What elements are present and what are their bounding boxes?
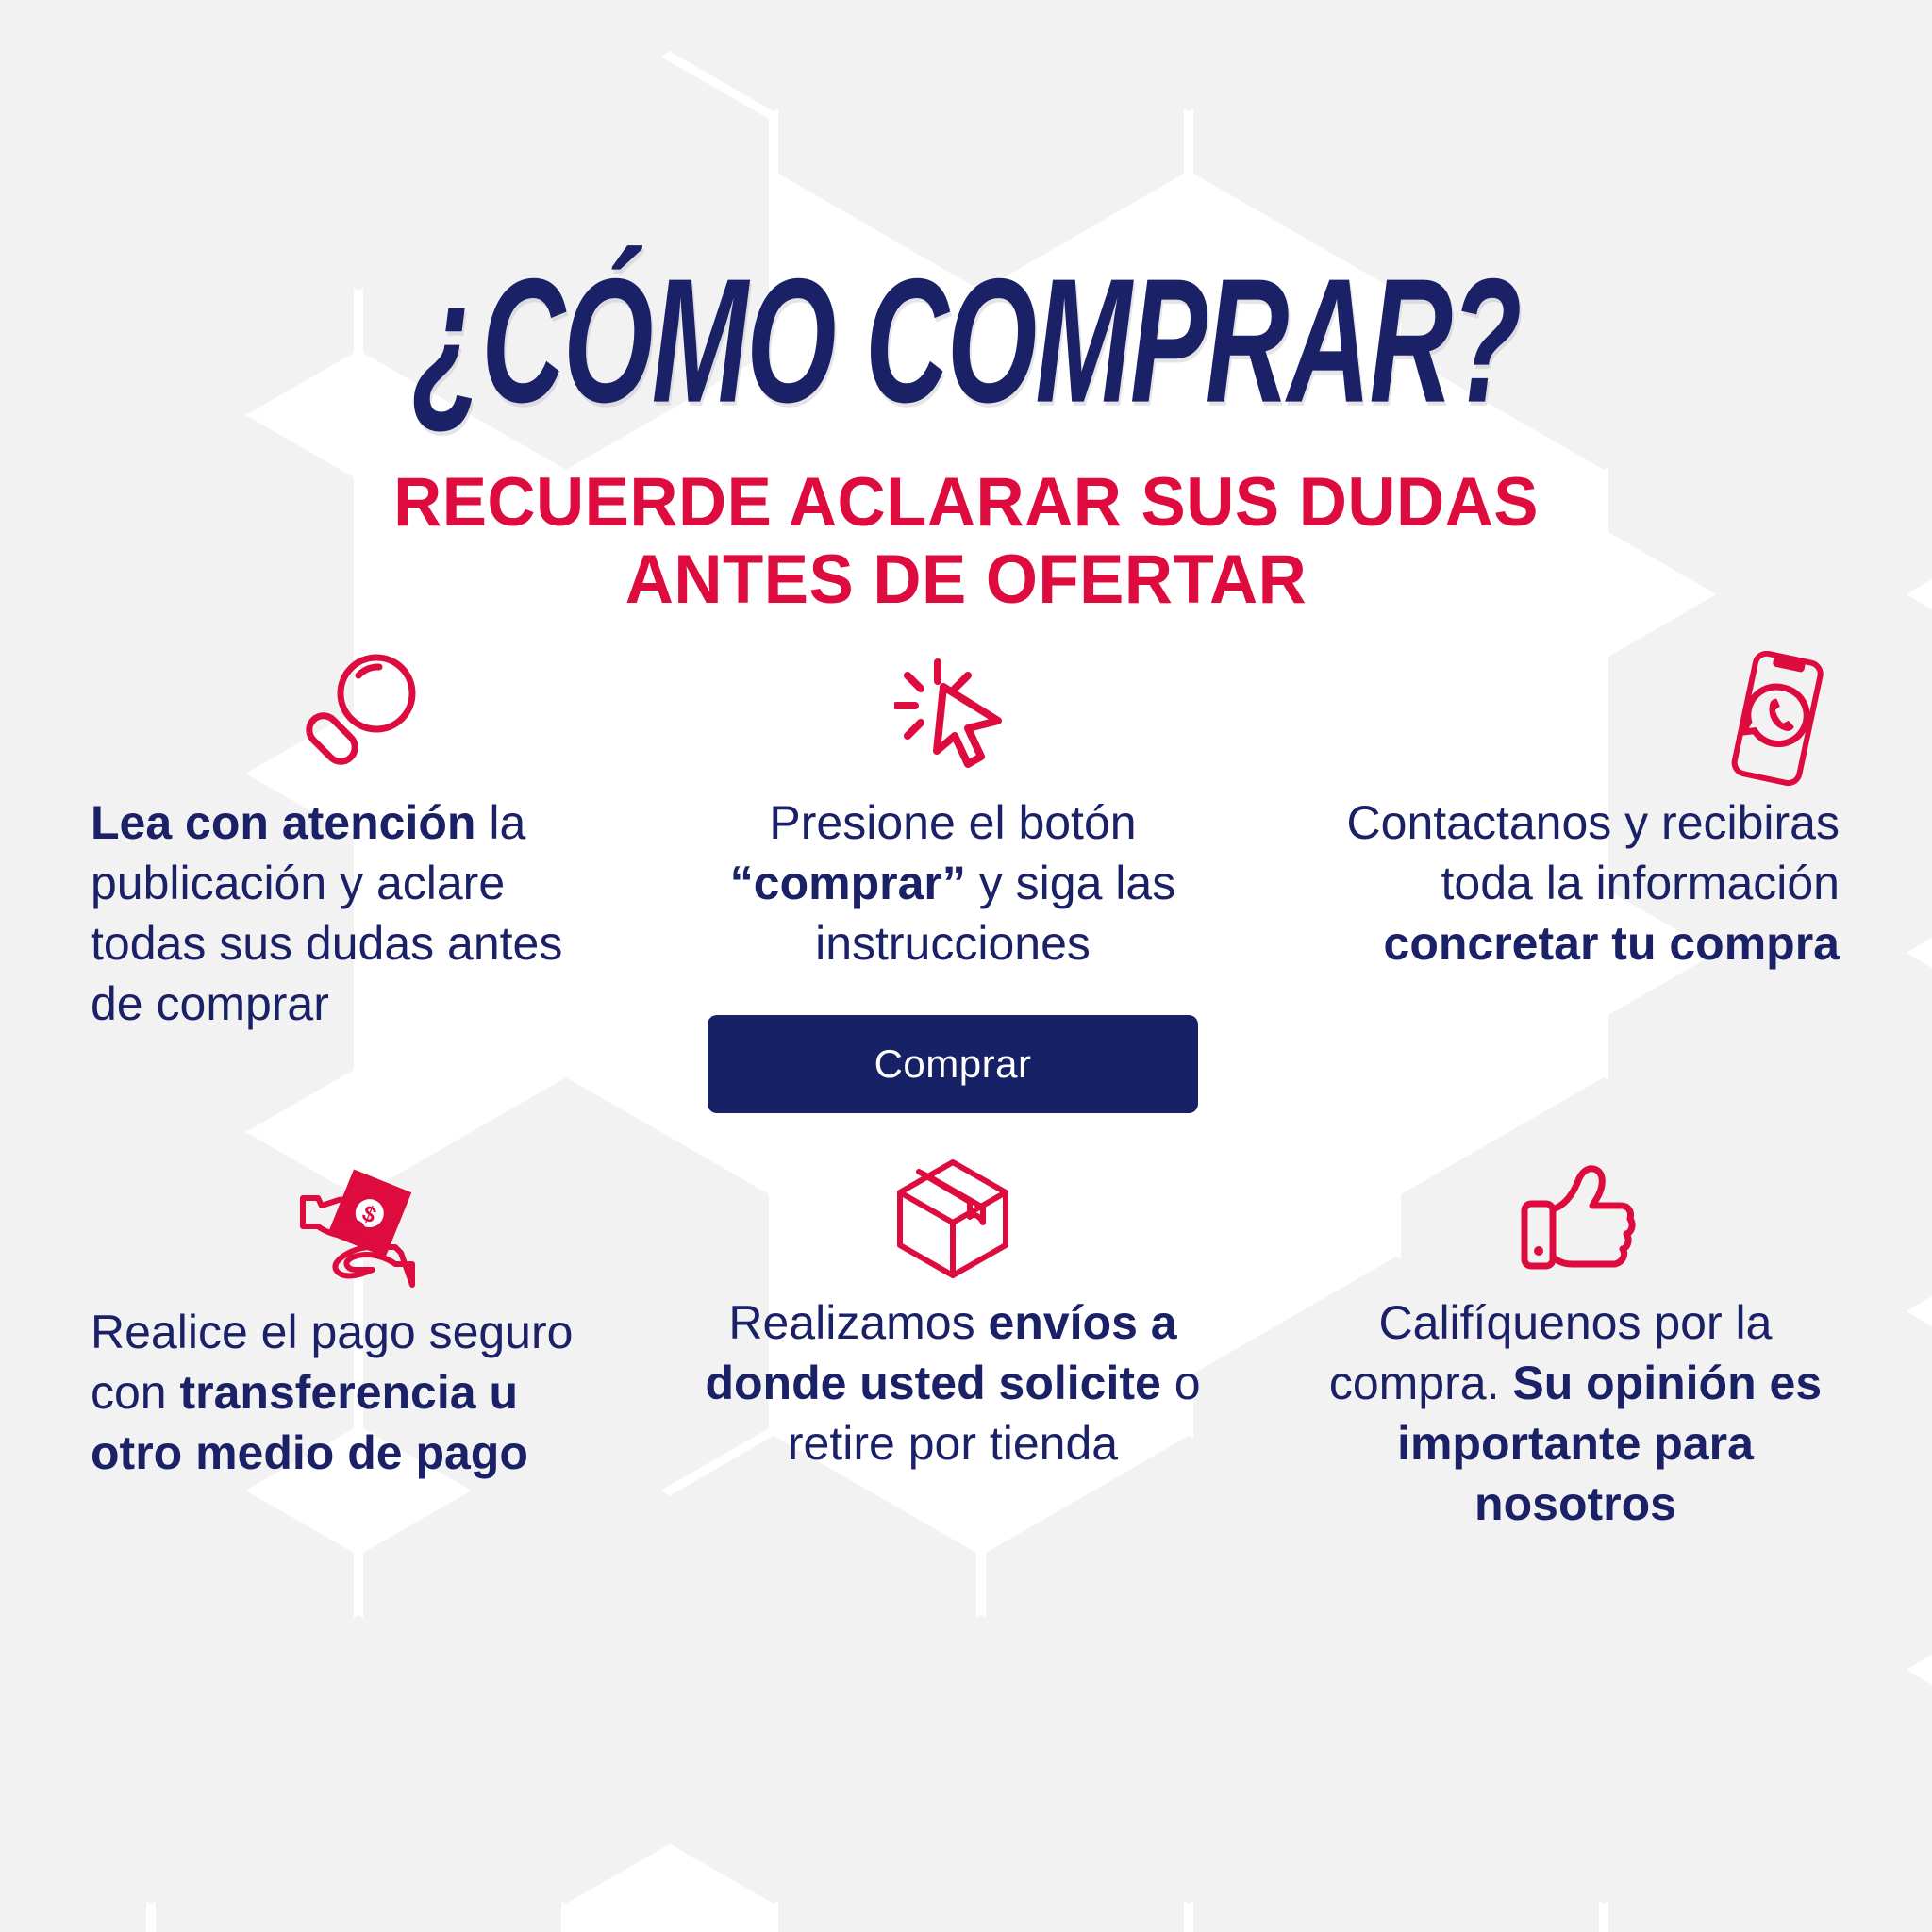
- click-cursor-icon: [894, 651, 1012, 778]
- text-plain-1: Contactanos y recibiras toda la informac…: [1347, 796, 1840, 909]
- poster-canvas: ¿CÓMO COMPRAR? RECUERDE ACLARAR SUS DUDA…: [0, 0, 1932, 1932]
- package-box-icon: [887, 1151, 1019, 1283]
- step-card-text: Califíquenos por la compra. Su opinión e…: [1311, 1292, 1840, 1534]
- step-card-rate-us: Califíquenos por la compra. Su opinión e…: [1311, 1151, 1840, 1534]
- subtitle-container: RECUERDE ACLARAR SUS DUDAS ANTES DE OFER…: [0, 464, 1932, 620]
- text-plain-1: Realizamos: [728, 1296, 988, 1349]
- whatsapp-phone-icon-wrap: [1311, 651, 1840, 792]
- step-card-shipping: Realizamos envíos a donde usted solicite…: [698, 1151, 1207, 1474]
- comprar-button[interactable]: Comprar: [708, 1015, 1198, 1113]
- step-card-text: Presione el botón “comprar” y siga las i…: [698, 792, 1207, 974]
- step-card-contact-us: Contactanos y recibiras toda la informac…: [1311, 651, 1840, 974]
- title-container: ¿CÓMO COMPRAR?: [0, 253, 1932, 377]
- step-card-text: Realizamos envíos a donde usted solicite…: [698, 1292, 1207, 1474]
- whatsapp-phone-icon: [1712, 651, 1840, 788]
- text-plain-1: Presione el botón: [769, 796, 1136, 849]
- thumbs-up-icon-wrap: [1311, 1151, 1840, 1292]
- thumbs-up-icon: [1509, 1151, 1641, 1283]
- subtitle-line-2: ANTES DE OFERTAR: [29, 541, 1904, 619]
- text-bold-1: concretar tu compra: [1384, 917, 1840, 970]
- step-card-text: Lea con atención la publicación y aclare…: [91, 792, 600, 1034]
- text-bold-1: “comprar”: [730, 857, 966, 909]
- money-hands-icon-wrap: $: [91, 1160, 600, 1302]
- steps-grid: Lea con atención la publicación y aclare…: [0, 651, 1932, 1594]
- magnifier-icon: [298, 651, 421, 783]
- step-card-press-buy-button: Presione el botón “comprar” y siga las i…: [698, 651, 1207, 1113]
- text-bold-1: Lea con atención: [91, 796, 475, 849]
- magnifier-icon-wrap: [91, 651, 600, 792]
- click-cursor-icon-wrap: [698, 651, 1207, 792]
- step-card-text: Contactanos y recibiras toda la informac…: [1311, 792, 1840, 974]
- money-hands-icon: $: [293, 1160, 425, 1292]
- step-card-secure-payment: $ Realice el pago seguro con transferenc…: [91, 1160, 600, 1483]
- page-title: ¿CÓMO COMPRAR?: [412, 253, 1520, 429]
- step-card-read-carefully: Lea con atención la publicación y aclare…: [91, 651, 600, 1034]
- comprar-button-label: Comprar: [874, 1041, 1032, 1087]
- step-card-text: Realice el pago seguro con transferencia…: [91, 1302, 600, 1483]
- package-box-icon-wrap: [698, 1151, 1207, 1292]
- subtitle-line-1: RECUERDE ACLARAR SUS DUDAS: [29, 464, 1904, 541]
